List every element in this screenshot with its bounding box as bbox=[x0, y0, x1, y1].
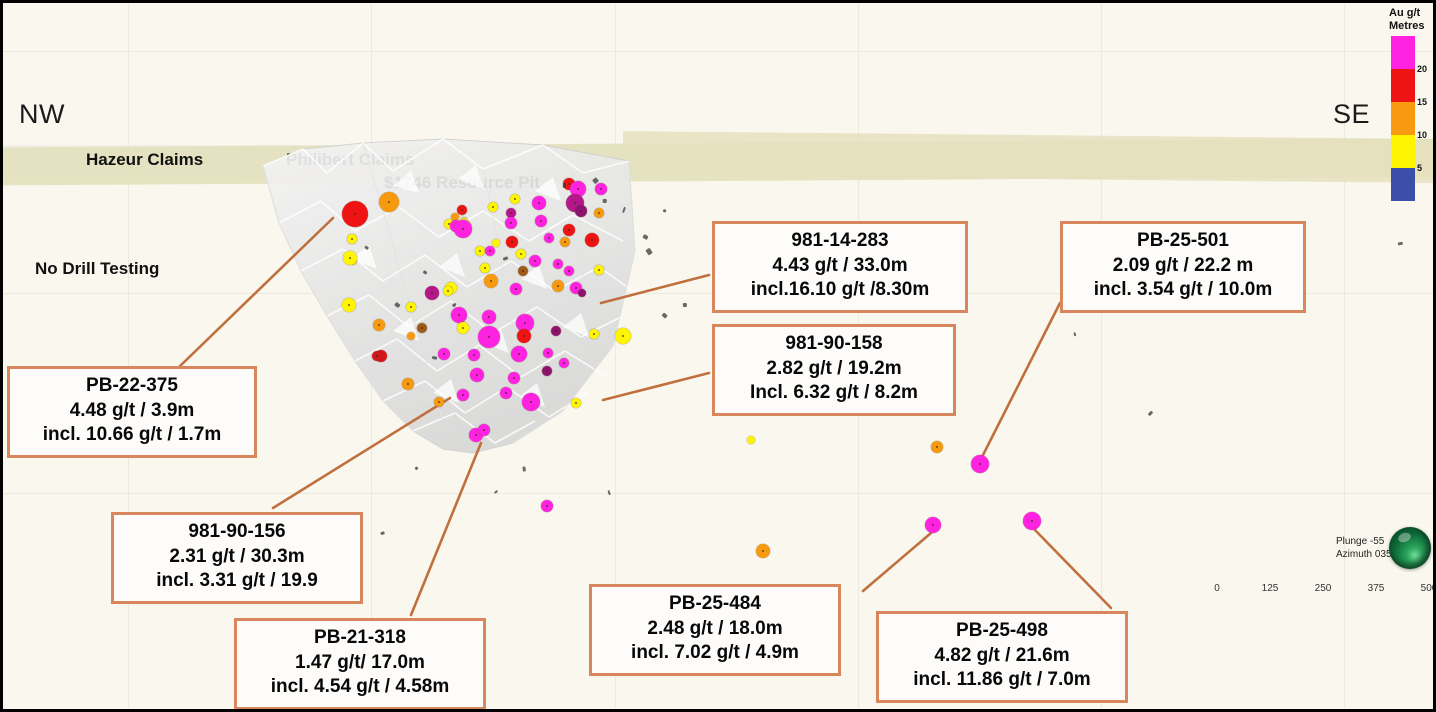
callout-interval: 4.43 g/t / 33.0m bbox=[729, 254, 951, 279]
leader-line bbox=[983, 303, 1060, 455]
philibert-claims-band bbox=[623, 131, 1433, 183]
rock-trace-mark bbox=[663, 209, 667, 212]
drill-intercept-disc bbox=[347, 234, 357, 244]
callout-hole-id: PB-25-501 bbox=[1077, 229, 1289, 254]
drill-intercept-disc bbox=[532, 196, 546, 210]
drill-intercept-disc bbox=[551, 326, 561, 336]
leader-line bbox=[863, 533, 931, 591]
drill-intercept-disc bbox=[482, 310, 496, 324]
callout-included: Incl. 6.32 g/t / 8.2m bbox=[729, 381, 939, 406]
legend-title: Au g/t Metres bbox=[1389, 7, 1429, 32]
plunge-value: Plunge -55 bbox=[1336, 535, 1392, 548]
callout-included: incl. 3.54 g/t / 10.0m bbox=[1077, 278, 1289, 303]
hazeur-claims-label: Hazeur Claims bbox=[86, 150, 203, 170]
legend-title-line1: Au g/t bbox=[1389, 7, 1429, 20]
callout-included: incl. 4.54 g/t / 4.58m bbox=[251, 675, 469, 700]
drill-intercept-disc bbox=[563, 224, 575, 236]
callout-interval: 2.82 g/t / 19.2m bbox=[729, 357, 939, 382]
drill-intercept-disc bbox=[438, 348, 450, 360]
drill-intercept-disc bbox=[475, 246, 485, 256]
gridline-horizontal bbox=[3, 493, 1433, 494]
legend-colour-band bbox=[1391, 69, 1415, 102]
drill-intercept-disc bbox=[485, 246, 495, 256]
drill-intercept-disc bbox=[434, 397, 444, 407]
drill-intercept-disc bbox=[500, 387, 512, 399]
legend-tick-label: 15 bbox=[1417, 97, 1427, 107]
drill-intercept-disc bbox=[457, 322, 469, 334]
scale-bar-tick: 500 bbox=[1421, 583, 1436, 594]
drill-intercept-disc bbox=[342, 298, 356, 312]
leader-line bbox=[411, 443, 481, 615]
drill-intercept-disc bbox=[407, 332, 415, 340]
drill-intercept-disc bbox=[541, 500, 553, 512]
legend-colour-band bbox=[1391, 135, 1415, 168]
drill-intercept-disc bbox=[594, 265, 604, 275]
drill-intercept-disc bbox=[372, 351, 382, 361]
legend-colour-band bbox=[1391, 36, 1415, 69]
drill-intercept-disc bbox=[343, 251, 357, 265]
drill-intercept-disc bbox=[470, 368, 484, 382]
callout-included: incl. 3.31 g/t / 19.9 bbox=[128, 569, 346, 594]
scale-bar-segments bbox=[1217, 597, 1429, 604]
callout-hole-id: 981-14-283 bbox=[729, 229, 951, 254]
callout-interval: 2.09 g/t / 22.2 m bbox=[1077, 254, 1289, 279]
rock-trace-mark bbox=[1148, 411, 1154, 417]
drill-intercept-disc bbox=[529, 255, 541, 267]
drill-intercept-disc bbox=[542, 366, 552, 376]
rock-trace-mark bbox=[683, 303, 687, 307]
legend-colour-band bbox=[1391, 168, 1415, 201]
callout-hole-id: PB-21-318 bbox=[251, 626, 469, 651]
drill-intercept-disc bbox=[589, 329, 599, 339]
drill-intercept-disc bbox=[925, 517, 941, 533]
legend-colour-band bbox=[1391, 102, 1415, 135]
callout-included: incl. 7.02 g/t / 4.9m bbox=[606, 641, 824, 666]
scale-bar-labels: 0125250375500 bbox=[1217, 583, 1429, 596]
callout-pb-25-501[interactable]: PB-25-501 2.09 g/t / 22.2 m incl. 3.54 g… bbox=[1060, 221, 1306, 313]
callout-pb-22-375[interactable]: PB-22-375 4.48 g/t / 3.9m incl. 10.66 g/… bbox=[7, 366, 257, 458]
drill-intercept-disc bbox=[484, 274, 498, 288]
drill-intercept-disc bbox=[595, 183, 607, 195]
drill-intercept-disc bbox=[510, 194, 520, 204]
drill-intercept-disc bbox=[478, 326, 500, 348]
drill-intercept-disc bbox=[417, 323, 427, 333]
azimuth-value: Azimuth 035 bbox=[1336, 548, 1392, 561]
drill-intercept-disc bbox=[756, 544, 770, 558]
callout-interval: 4.82 g/t / 21.6m bbox=[893, 644, 1111, 669]
drill-intercept-disc bbox=[402, 378, 414, 390]
legend-colour-bar: 2015105 bbox=[1391, 36, 1415, 201]
drill-intercept-disc bbox=[571, 398, 581, 408]
callout-interval: 2.48 g/t / 18.0m bbox=[606, 617, 824, 642]
drill-intercept-disc bbox=[508, 372, 520, 384]
drill-intercept-disc bbox=[931, 441, 943, 453]
legend-tick-label: 5 bbox=[1417, 163, 1422, 173]
rock-trace-mark bbox=[603, 199, 607, 203]
drill-intercept-disc bbox=[517, 329, 531, 343]
callout-pb-25-484[interactable]: PB-25-484 2.48 g/t / 18.0m incl. 7.02 g/… bbox=[589, 584, 841, 676]
legend-title-line2: Metres bbox=[1389, 20, 1429, 33]
drill-intercept-disc bbox=[488, 202, 498, 212]
callout-interval: 2.31 g/t / 30.3m bbox=[128, 545, 346, 570]
drill-intercept-disc bbox=[457, 205, 467, 215]
orientation-readout: Plunge -55 Azimuth 035 bbox=[1336, 535, 1392, 561]
callout-hole-id: 981-90-158 bbox=[729, 332, 939, 357]
callout-included: incl. 11.86 g/t / 7.0m bbox=[893, 668, 1111, 693]
callout-981-90-158[interactable]: 981-90-158 2.82 g/t / 19.2m Incl. 6.32 g… bbox=[712, 324, 956, 416]
drill-intercept-disc bbox=[971, 455, 989, 473]
scale-bar-tick: 250 bbox=[1315, 583, 1332, 594]
drill-intercept-disc bbox=[480, 263, 490, 273]
drill-intercept-disc bbox=[552, 280, 564, 292]
callout-hole-id: 981-90-156 bbox=[128, 520, 346, 545]
callout-hole-id: PB-22-375 bbox=[24, 374, 240, 399]
drill-intercept-disc bbox=[451, 307, 467, 323]
orientation-sphere-icon bbox=[1389, 527, 1431, 569]
drill-intercept-disc bbox=[518, 266, 528, 276]
drill-intercept-disc bbox=[492, 239, 500, 247]
drill-intercept-disc bbox=[342, 201, 368, 227]
legend-tick-label: 10 bbox=[1417, 130, 1427, 140]
rock-trace-mark bbox=[607, 490, 611, 496]
drill-intercept-disc bbox=[615, 328, 631, 344]
drill-intercept-disc bbox=[594, 208, 604, 218]
rock-trace-mark bbox=[415, 466, 419, 470]
drill-intercept-disc bbox=[454, 220, 472, 238]
rock-trace-mark bbox=[1398, 242, 1403, 246]
callout-included: incl. 10.66 g/t / 1.7m bbox=[24, 423, 240, 448]
scale-bar-tick: 125 bbox=[1262, 583, 1279, 594]
scale-bar-tick: 375 bbox=[1368, 583, 1385, 594]
rock-trace-mark bbox=[1073, 332, 1076, 336]
drill-intercept-disc bbox=[425, 286, 439, 300]
drill-intercept-disc bbox=[559, 358, 569, 368]
gridline-horizontal bbox=[3, 51, 1433, 52]
colour-legend: Au g/t Metres 2015105 bbox=[1389, 7, 1429, 201]
drill-intercept-disc bbox=[543, 348, 553, 358]
drill-intercept-disc bbox=[373, 319, 385, 331]
callout-interval: 1.47 g/t/ 17.0m bbox=[251, 651, 469, 676]
drill-intercept-disc bbox=[406, 302, 416, 312]
drill-intercept-disc bbox=[506, 236, 518, 248]
drill-intercept-disc bbox=[510, 283, 522, 295]
direction-label-se: SE bbox=[1333, 99, 1370, 130]
legend-tick-label: 20 bbox=[1417, 64, 1427, 74]
drill-intercept-disc bbox=[379, 192, 399, 212]
callout-pb-21-318[interactable]: PB-21-318 1.47 g/t/ 17.0m incl. 4.54 g/t… bbox=[234, 618, 486, 710]
resource-pit-shell bbox=[243, 131, 663, 461]
drill-intercept-disc bbox=[468, 349, 480, 361]
drill-intercept-disc bbox=[560, 237, 570, 247]
drill-intercept-disc bbox=[544, 233, 554, 243]
rock-trace-mark bbox=[523, 467, 526, 472]
callout-981-14-283[interactable]: 981-14-283 4.43 g/t / 33.0m incl.16.10 g… bbox=[712, 221, 968, 313]
no-drill-testing-label: No Drill Testing bbox=[35, 259, 159, 279]
drill-intercept-disc bbox=[478, 424, 490, 436]
drill-intercept-disc bbox=[575, 205, 587, 217]
drill-section-figure: NW SE Hazeur Claims Philibert Claims $17… bbox=[0, 0, 1436, 712]
drill-intercept-disc bbox=[585, 233, 599, 247]
drill-intercept-disc bbox=[505, 217, 517, 229]
drill-intercept-disc bbox=[457, 389, 469, 401]
callout-included: incl.16.10 g/t /8.30m bbox=[729, 278, 951, 303]
callout-hole-id: PB-25-498 bbox=[893, 619, 1111, 644]
drill-intercept-disc bbox=[522, 393, 540, 411]
scale-bar: 0125250375500 bbox=[1217, 583, 1429, 604]
callout-pb-25-498[interactable]: PB-25-498 4.82 g/t / 21.6m incl. 11.86 g… bbox=[876, 611, 1128, 703]
drill-intercept-disc bbox=[535, 215, 547, 227]
callout-981-90-156[interactable]: 981-90-156 2.31 g/t / 30.3m incl. 3.31 g… bbox=[111, 512, 363, 604]
drill-intercept-disc bbox=[578, 289, 586, 297]
callout-interval: 4.48 g/t / 3.9m bbox=[24, 399, 240, 424]
drill-intercept-disc bbox=[1023, 512, 1041, 530]
scale-bar-tick: 0 bbox=[1214, 583, 1220, 594]
drill-intercept-disc bbox=[747, 436, 755, 444]
callout-hole-id: PB-25-484 bbox=[606, 592, 824, 617]
gridline-vertical bbox=[1101, 3, 1102, 709]
drill-intercept-disc bbox=[511, 346, 527, 362]
rock-trace-mark bbox=[380, 531, 385, 535]
drill-intercept-disc bbox=[516, 249, 526, 259]
drill-intercept-disc bbox=[553, 259, 563, 269]
drill-intercept-disc bbox=[443, 286, 453, 296]
direction-label-nw: NW bbox=[19, 99, 65, 130]
leader-line bbox=[1035, 530, 1111, 608]
drill-intercept-disc bbox=[564, 266, 574, 276]
